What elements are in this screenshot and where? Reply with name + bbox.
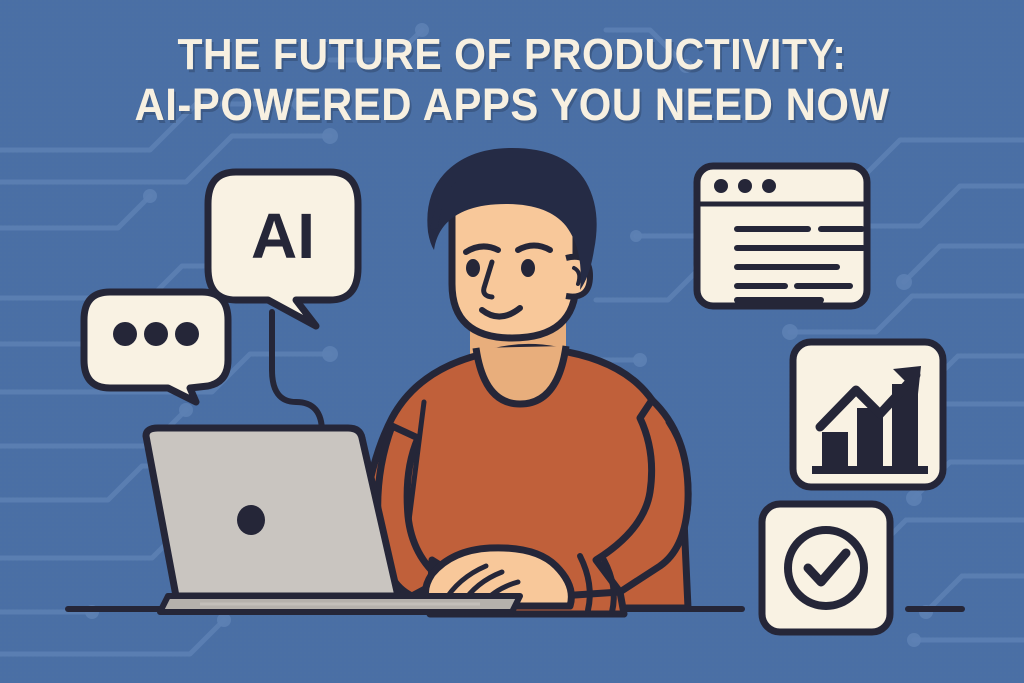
speech-bubble-typing <box>84 292 228 402</box>
typing-dots <box>113 322 199 346</box>
eye-right <box>521 259 535 277</box>
eye-left <box>466 259 480 277</box>
growth-chart-icon <box>793 342 943 487</box>
laptop-lid <box>146 428 398 596</box>
laptop-lid-logo <box>237 505 265 535</box>
check-circle-icon <box>762 504 890 632</box>
illustrated-person-at-laptop <box>356 148 689 614</box>
poster-canvas: THE FUTURE OF PRODUCTIVITY: AI-POWERED A… <box>0 0 1024 683</box>
document-window-icon <box>697 166 867 306</box>
window-titlebar-dots <box>714 179 776 193</box>
illustration: AI <box>0 0 1024 683</box>
ai-bubble-label: AI <box>251 200 315 272</box>
chart-baseline <box>812 466 928 474</box>
speech-bubble-ai: AI <box>208 172 358 326</box>
